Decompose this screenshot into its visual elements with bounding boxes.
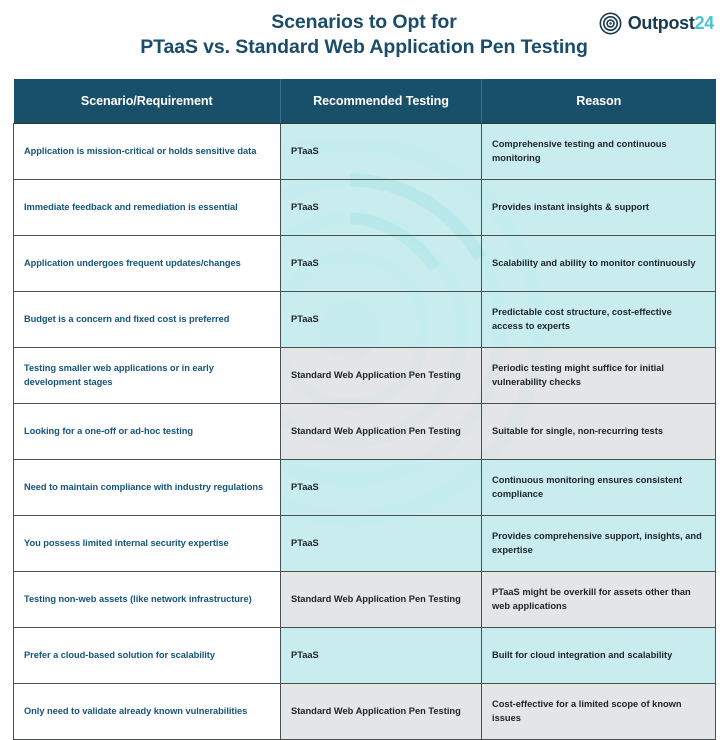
- target-concentric-circles-icon: [599, 12, 622, 35]
- cell-scenario: Application is mission-critical or holds…: [14, 124, 281, 180]
- cell-reason: Continuous monitoring ensures consistent…: [482, 460, 716, 516]
- cell-recommended-testing: PTaaS: [281, 460, 482, 516]
- table-row: Immediate feedback and remediation is es…: [14, 180, 716, 236]
- table-row: Application undergoes frequent updates/c…: [14, 236, 716, 292]
- cell-reason: Comprehensive testing and continuous mon…: [482, 124, 716, 180]
- cell-recommended-testing: PTaaS: [281, 628, 482, 684]
- cell-reason: Periodic testing might suffice for initi…: [482, 348, 716, 404]
- column-header-scenario: Scenario/Requirement: [14, 79, 281, 124]
- table-row: Prefer a cloud-based solution for scalab…: [14, 628, 716, 684]
- cell-recommended-testing: PTaaS: [281, 292, 482, 348]
- cell-scenario: Budget is a concern and fixed cost is pr…: [14, 292, 281, 348]
- cell-recommended-testing: PTaaS: [281, 180, 482, 236]
- table-row: You possess limited internal security ex…: [14, 516, 716, 572]
- table-row: Budget is a concern and fixed cost is pr…: [14, 292, 716, 348]
- cell-recommended-testing: PTaaS: [281, 124, 482, 180]
- cell-scenario: Immediate feedback and remediation is es…: [14, 180, 281, 236]
- cell-reason: Provides comprehensive support, insights…: [482, 516, 716, 572]
- comparison-table-container: Scenario/Requirement Recommended Testing…: [13, 79, 715, 740]
- cell-reason: Built for cloud integration and scalabil…: [482, 628, 716, 684]
- table-row: Need to maintain compliance with industr…: [14, 460, 716, 516]
- cell-scenario: Testing non-web assets (like network inf…: [14, 572, 281, 628]
- logo-wordmark: Outpost24: [628, 13, 714, 34]
- logo-suffix: 24: [695, 13, 714, 33]
- cell-scenario: Need to maintain compliance with industr…: [14, 460, 281, 516]
- cell-scenario: Only need to validate already known vuln…: [14, 684, 281, 740]
- cell-reason: Provides instant insights & support: [482, 180, 716, 236]
- column-header-recommended-testing: Recommended Testing: [281, 79, 482, 124]
- cell-scenario: Application undergoes frequent updates/c…: [14, 236, 281, 292]
- column-header-reason: Reason: [482, 79, 716, 124]
- cell-scenario: You possess limited internal security ex…: [14, 516, 281, 572]
- table-row: Looking for a one-off or ad-hoc testingS…: [14, 404, 716, 460]
- cell-recommended-testing: PTaaS: [281, 516, 482, 572]
- table-row: Application is mission-critical or holds…: [14, 124, 716, 180]
- cell-recommended-testing: Standard Web Application Pen Testing: [281, 572, 482, 628]
- cell-scenario: Testing smaller web applications or in e…: [14, 348, 281, 404]
- cell-scenario: Looking for a one-off or ad-hoc testing: [14, 404, 281, 460]
- logo-name: Outpost: [628, 13, 695, 33]
- cell-reason: Scalability and ability to monitor conti…: [482, 236, 716, 292]
- table-body: Application is mission-critical or holds…: [14, 124, 716, 740]
- cell-reason: Cost-effective for a limited scope of kn…: [482, 684, 716, 740]
- cell-reason: Predictable cost structure, cost-effecti…: [482, 292, 716, 348]
- cell-recommended-testing: Standard Web Application Pen Testing: [281, 348, 482, 404]
- page-header: Scenarios to Opt for PTaaS vs. Standard …: [0, 0, 728, 78]
- table-row: Only need to validate already known vuln…: [14, 684, 716, 740]
- scenarios-comparison-table: Scenario/Requirement Recommended Testing…: [13, 79, 716, 740]
- outpost24-logo: Outpost24: [599, 12, 714, 35]
- cell-scenario: Prefer a cloud-based solution for scalab…: [14, 628, 281, 684]
- table-row: Testing non-web assets (like network inf…: [14, 572, 716, 628]
- cell-reason: Suitable for single, non-recurring tests: [482, 404, 716, 460]
- cell-reason: PTaaS might be overkill for assets other…: [482, 572, 716, 628]
- page-title-line-2: PTaaS vs. Standard Web Application Pen T…: [0, 35, 728, 60]
- table-header-row: Scenario/Requirement Recommended Testing…: [14, 79, 716, 124]
- cell-recommended-testing: Standard Web Application Pen Testing: [281, 684, 482, 740]
- table-row: Testing smaller web applications or in e…: [14, 348, 716, 404]
- cell-recommended-testing: PTaaS: [281, 236, 482, 292]
- cell-recommended-testing: Standard Web Application Pen Testing: [281, 404, 482, 460]
